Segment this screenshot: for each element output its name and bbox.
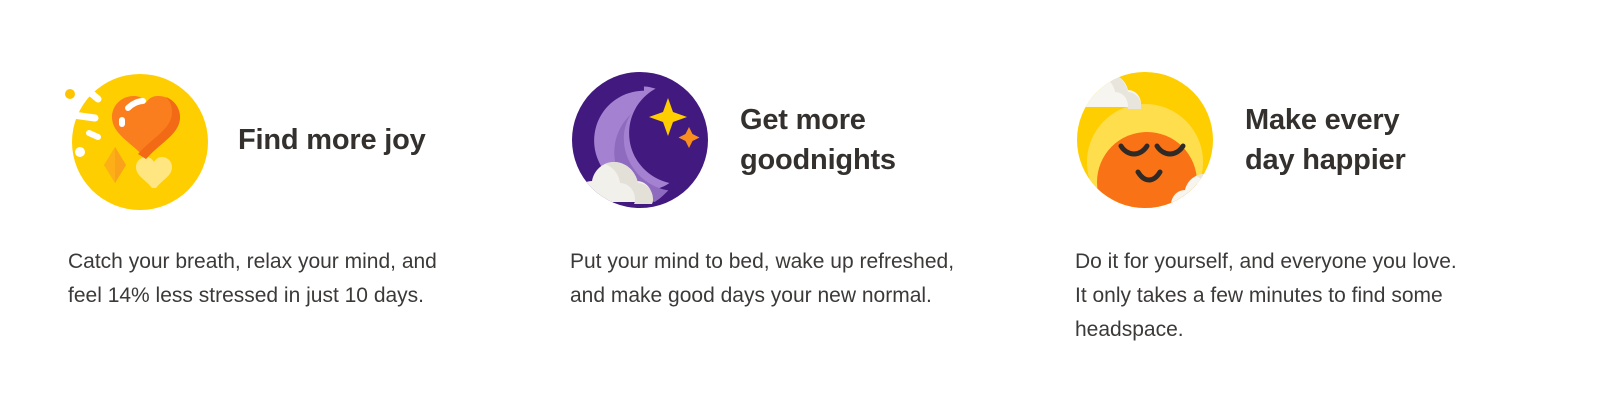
benefit-header: Find more joy (68, 70, 472, 210)
benefit-description: Do it for yourself, and everyone you lov… (1075, 210, 1470, 347)
benefit-column-find-more-joy: Find more joy Catch your breath, relax y… (0, 70, 500, 313)
goodnight-moon-cloud-icon (570, 70, 710, 210)
sunrise-happy-face-icon (1075, 70, 1215, 210)
benefit-title: Get more goodnights (710, 100, 910, 180)
benefit-column-get-more-goodnights: Get more goodnights Put your mind to bed… (500, 70, 1000, 313)
benefit-title: Make every day happier (1215, 100, 1445, 180)
joy-heart-sparkle-icon (68, 70, 208, 210)
benefit-header: Get more goodnights (570, 70, 972, 210)
benefit-description: Put your mind to bed, wake up refreshed,… (570, 210, 972, 313)
benefits-section: Find more joy Catch your breath, relax y… (0, 0, 1600, 404)
benefit-header: Make every day happier (1075, 70, 1472, 210)
benefit-title: Find more joy (208, 120, 426, 160)
benefit-description: Catch your breath, relax your mind, and … (68, 210, 472, 313)
benefit-column-make-every-day-happier: Make every day happier Do it for yoursel… (1000, 70, 1500, 347)
